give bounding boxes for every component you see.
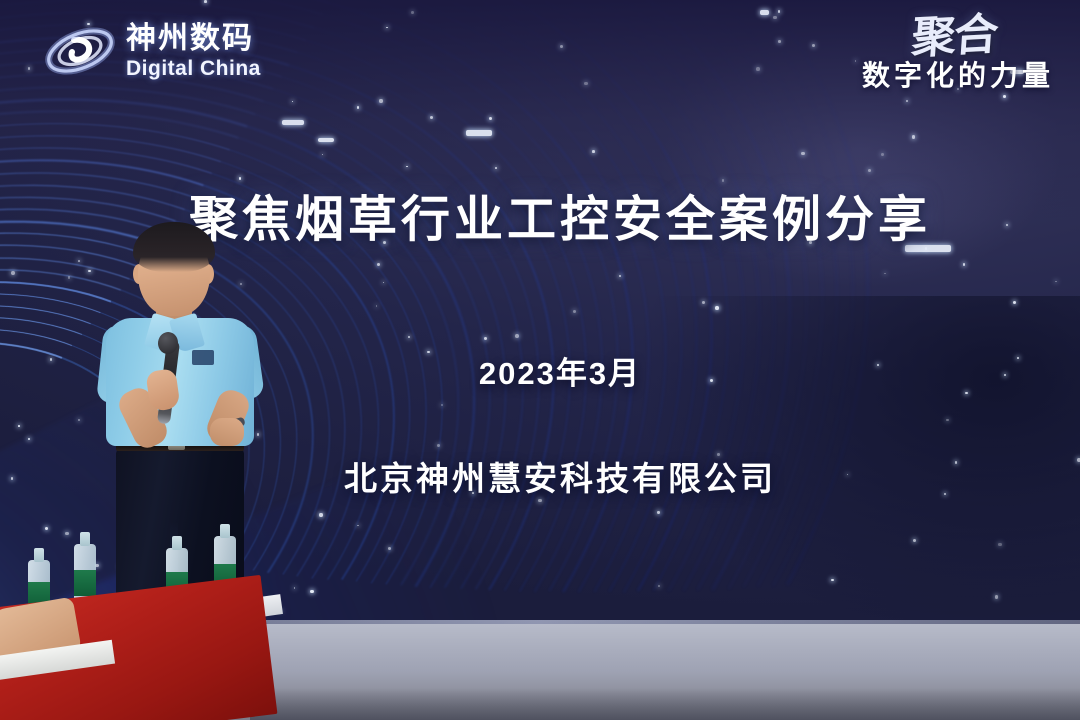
particle-dot [657,511,659,513]
light-dash [760,10,769,15]
particle-dot [756,67,760,71]
speaker-chest-logo [192,350,214,365]
digital-china-logo: 神州数码 Digital China [44,18,261,84]
particle-dot [801,152,804,155]
particle-dot [65,532,69,536]
spiral-swirl-icon [44,18,116,84]
particle-dot [1003,95,1006,98]
particle-dot [560,45,563,48]
particle-dot [437,444,440,447]
particle-dot [357,106,360,109]
particle-dot [18,425,20,427]
particle-dot [319,513,322,516]
particle-dot [489,117,493,121]
particle-dot [778,40,781,43]
particle-dot [515,334,519,338]
light-dash [282,120,304,125]
particle-dot [495,167,497,169]
particle-dot [963,263,965,265]
particle-dot [406,166,407,167]
light-dash [466,130,492,136]
speaker-hair [133,222,215,272]
particle-dot [812,44,815,47]
particle-dot [715,306,719,310]
particle-dot [322,154,324,156]
particle-dot [592,150,595,153]
particle-dot [377,263,380,266]
particle-dot [411,11,414,14]
particle-dot [855,60,857,62]
particle-dot [310,590,314,594]
particle-dot [379,99,382,102]
particle-dot [11,271,15,275]
particle-dot [906,100,908,102]
particle-dot [778,10,781,13]
logo-english-text: Digital China [126,58,261,79]
logo-chinese-text: 神州数码 [126,24,261,54]
particle-dot [998,543,1001,546]
conference-photo: 神州数码 Digital China 聚合 数字化的力量 聚焦烟草行业工控安全案… [0,0,1080,720]
light-dash [318,138,334,142]
particle-dot [78,260,80,262]
slogan-brush-text: 聚合 [910,14,997,60]
speaker-hand-right [210,418,244,446]
bottle-label [74,570,96,596]
particle-dot [294,587,295,588]
event-slogan: 聚合 数字化的力量 [862,16,1054,94]
floor-shadow [250,688,1080,720]
particle-dot [204,0,207,3]
